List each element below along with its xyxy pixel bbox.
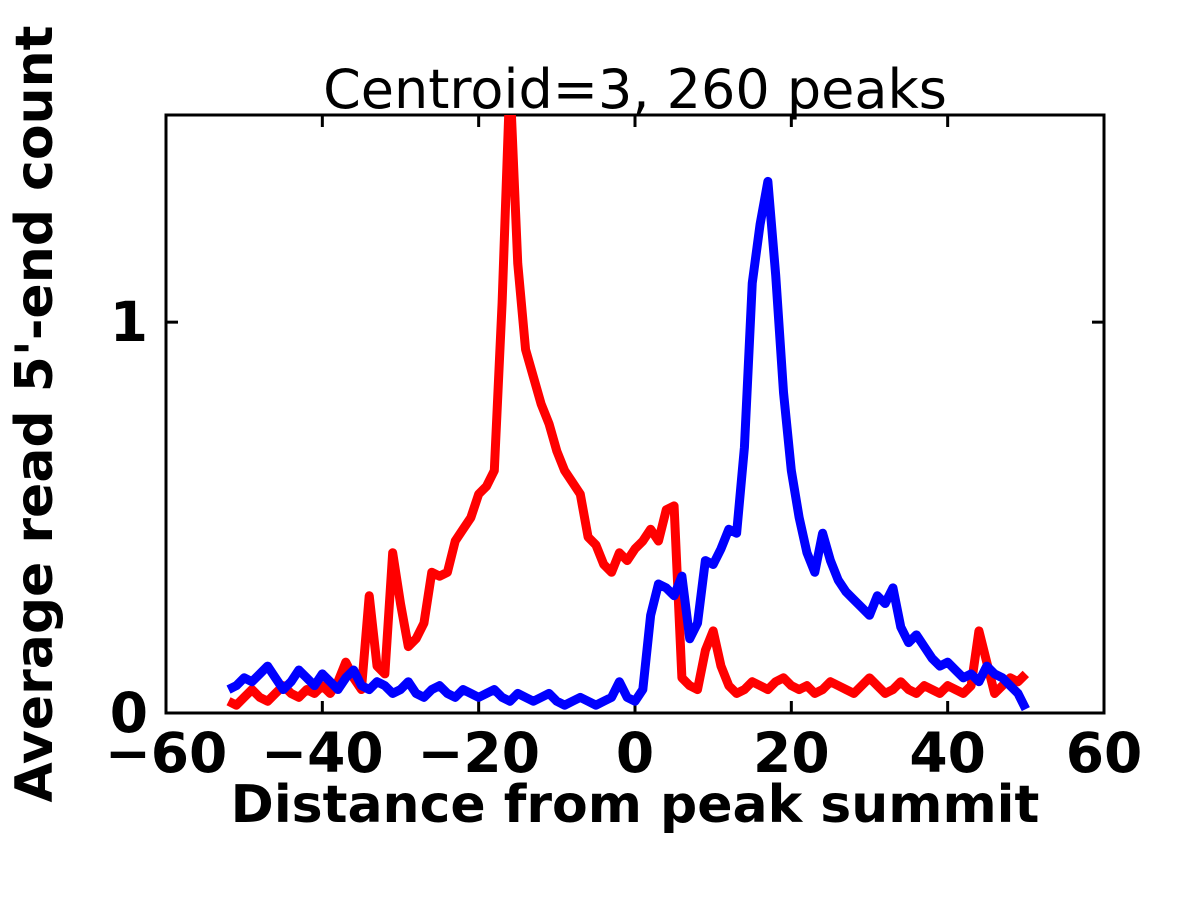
- x-axis-ticks: [322, 115, 947, 713]
- chart-figure: Centroid=3, 260 peaks −60−40−200204060 0…: [0, 0, 1200, 900]
- y-tick-label: 1: [110, 290, 148, 354]
- blue-series-line: [229, 181, 1026, 709]
- y-tick-labels: 01: [110, 290, 148, 745]
- x-tick-label: 60: [1066, 721, 1143, 785]
- line-chart: Centroid=3, 260 peaks −60−40−200204060 0…: [0, 0, 1200, 900]
- red-series-line: [229, 80, 1026, 705]
- plot-frame: [166, 115, 1104, 713]
- y-axis-label: Average read 5'-end count: [5, 26, 65, 803]
- series-group: [229, 80, 1026, 709]
- y-tick-label: 0: [110, 681, 148, 745]
- x-axis-label: Distance from peak summit: [231, 775, 1040, 835]
- chart-title: Centroid=3, 260 peaks: [323, 58, 947, 121]
